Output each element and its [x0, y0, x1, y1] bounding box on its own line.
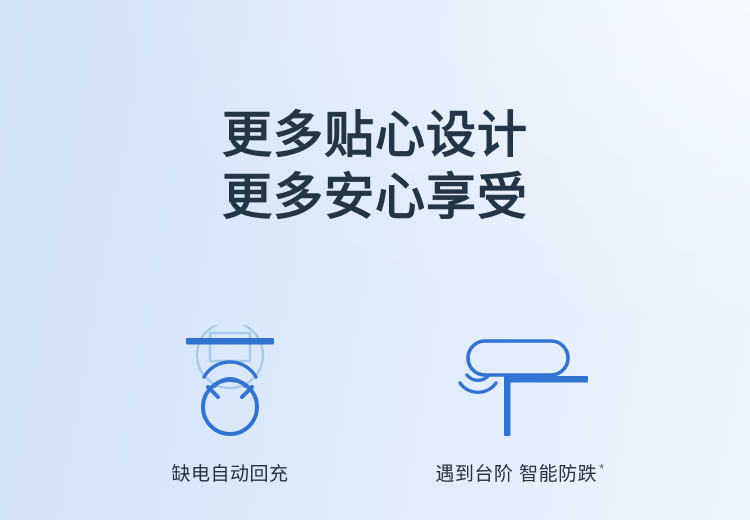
feature-anti-fall: 遇到台阶 智能防跌* [375, 325, 665, 486]
stair-anti-drop-sensor-icon [450, 325, 590, 437]
promo-banner: 更多贴心设计 更多安心享受 缺电自动回充 [0, 0, 750, 520]
page-title: 更多贴心设计 更多安心享受 [0, 104, 750, 228]
headline-line-1: 更多贴心设计 [0, 104, 750, 166]
charging-dock-return-icon [160, 325, 300, 437]
headline-line-2: 更多安心享受 [0, 166, 750, 228]
feature-caption: 遇到台阶 智能防跌* [435, 459, 604, 486]
feature-list: 缺电自动回充 遇到台阶 智能防跌* [0, 325, 750, 486]
footnote-asterisk: * [599, 461, 605, 476]
feature-auto-recharge: 缺电自动回充 [85, 325, 375, 486]
feature-caption-text: 遇到台阶 智能防跌 [435, 464, 597, 485]
feature-caption: 缺电自动回充 [171, 459, 288, 486]
